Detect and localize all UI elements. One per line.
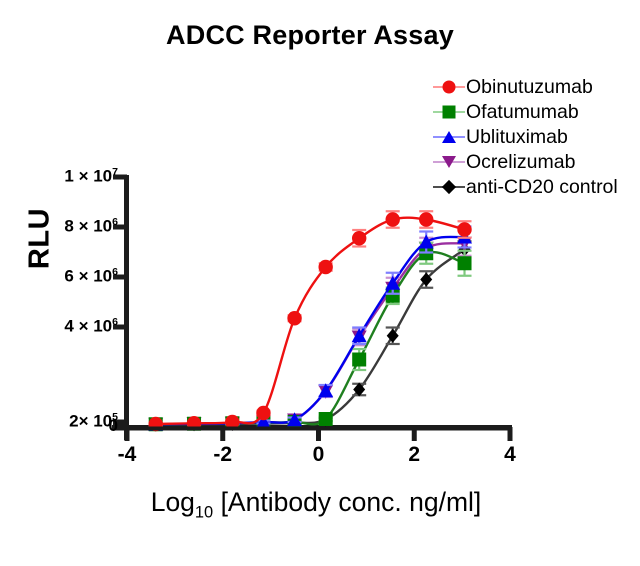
- series-anti-cd20-control: [149, 241, 472, 431]
- x-axis-tick-label: -4: [107, 443, 147, 467]
- marker-circle: [419, 212, 433, 226]
- data-point-marker: [457, 222, 471, 236]
- marker-circle: [287, 311, 301, 325]
- series-line: [156, 252, 465, 424]
- y-axis-tick-text: 2× 105: [69, 411, 118, 432]
- data-point-marker: [352, 231, 366, 245]
- marker-circle: [318, 260, 332, 274]
- y-axis-tick-exponent: 6: [112, 216, 118, 228]
- data-point-marker: [419, 212, 433, 226]
- x-axis-label-prefix: Log: [151, 487, 195, 517]
- marker-square: [458, 256, 472, 270]
- data-point-marker: [352, 353, 366, 367]
- data-point-marker: [458, 256, 472, 270]
- x-axis-label: Log10 [Antibody conc. ng/ml]: [96, 487, 536, 522]
- x-axis-label-subscript: 10: [195, 503, 213, 521]
- marker-circle: [386, 212, 400, 226]
- y-axis-tick-exponent: 6: [112, 316, 118, 328]
- y-axis-tick-exponent: 6: [112, 266, 118, 278]
- marker-triangle-up: [419, 235, 434, 249]
- y-axis-tick-text: 8 × 106: [64, 216, 118, 237]
- y-axis-label: RLU: [24, 207, 57, 271]
- x-axis-tick-label: 0: [299, 443, 339, 467]
- x-axis-tick-label: 4: [490, 443, 530, 467]
- series-line: [156, 237, 465, 424]
- data-point-marker: [419, 235, 434, 249]
- y-axis-tick-text: 4 × 106: [64, 316, 118, 337]
- data-point-marker: [256, 406, 270, 420]
- series-ocrelizumab: [148, 231, 472, 432]
- chart-figure: ADCC Reporter Assay ObinutuzumabOfatumum…: [0, 0, 640, 561]
- data-point-marker: [318, 260, 332, 274]
- data-point-marker: [287, 311, 301, 325]
- x-axis-tick-label: -2: [203, 443, 243, 467]
- marker-circle: [457, 222, 471, 236]
- data-point-marker: [386, 212, 400, 226]
- marker-square: [352, 353, 366, 367]
- y-axis-tick-text: 1 × 107: [64, 166, 118, 187]
- marker-circle: [256, 406, 270, 420]
- x-axis-label-suffix: [Antibody conc. ng/ml]: [213, 487, 481, 517]
- y-axis-tick-text: 6 × 106: [64, 266, 118, 287]
- marker-circle: [352, 231, 366, 245]
- y-axis-tick-exponent: 5: [112, 411, 118, 423]
- x-axis-tick-label: 2: [394, 443, 434, 467]
- y-axis-tick-exponent: 7: [112, 166, 118, 178]
- marker-square: [319, 412, 333, 426]
- series-line: [156, 250, 465, 425]
- data-point-marker: [319, 412, 333, 426]
- series-line: [156, 243, 465, 424]
